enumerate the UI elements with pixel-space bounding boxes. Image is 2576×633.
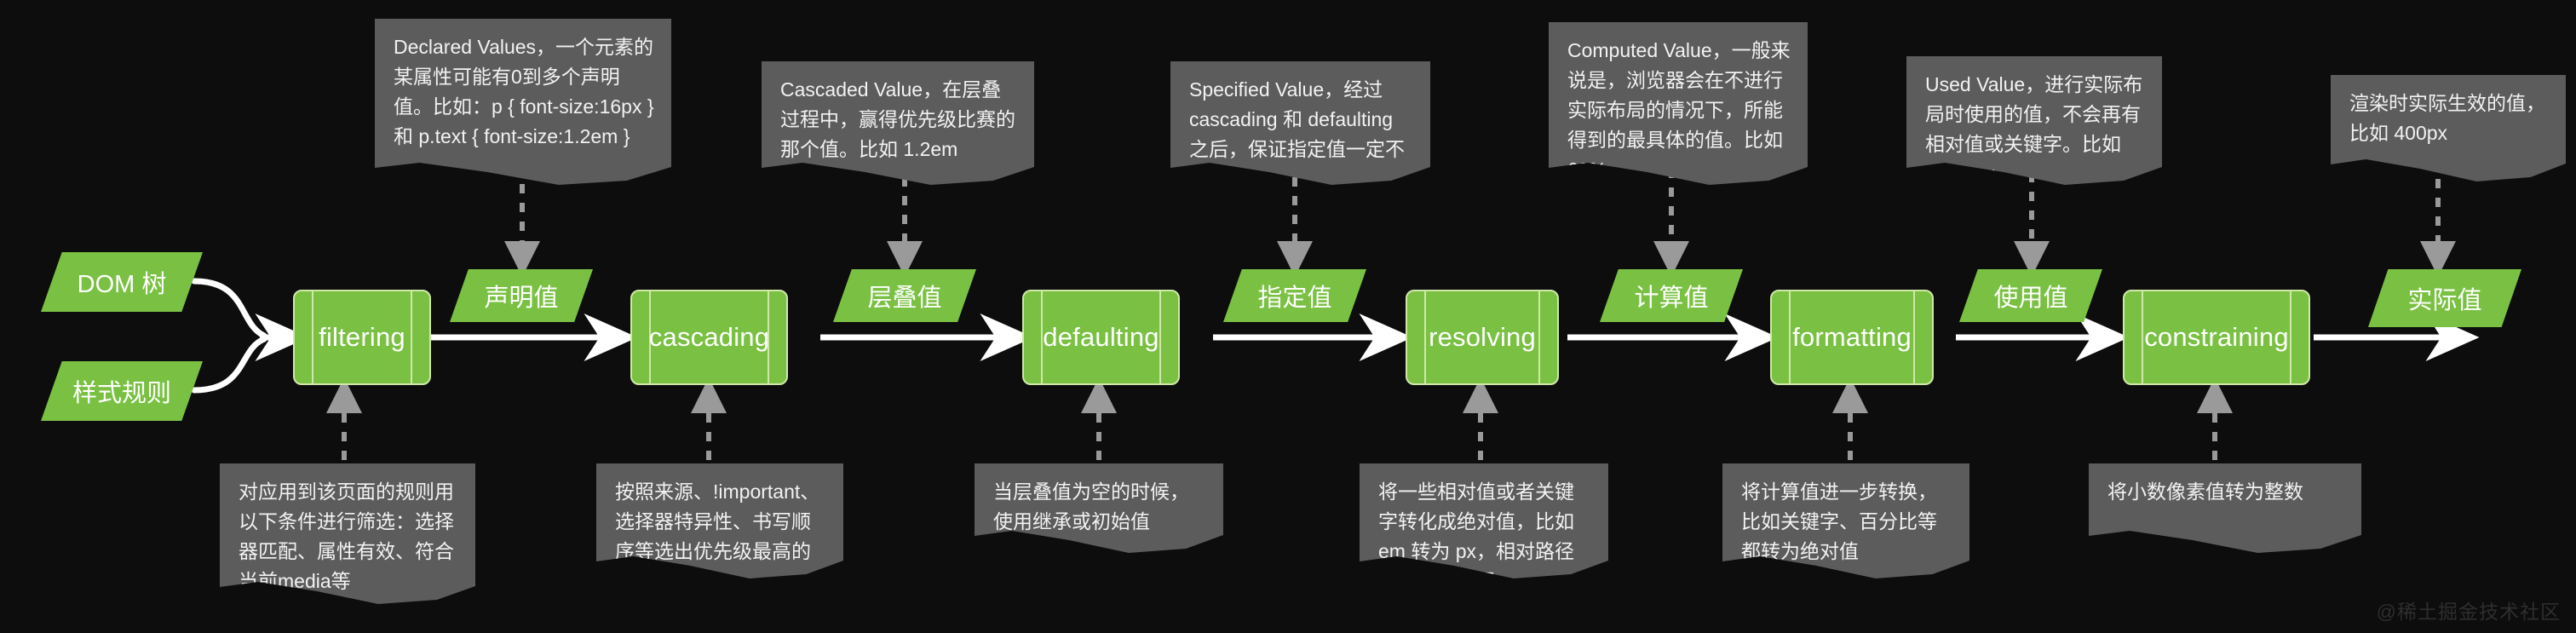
value-specified-value-label: 指定值 (1257, 278, 1331, 314)
value-specified-value[interactable]: 指定值 (1223, 269, 1366, 322)
note-resolving-text: 将一些相对值或者关键字转化成绝对值，比如 em 转为 px，相对路径转为绝对路径 (1378, 481, 1574, 592)
note-actual-value: 渲染时实际生效的值，比如 400px (2331, 75, 2566, 182)
value-computed-value[interactable]: 计算值 (1600, 269, 1743, 322)
note-specified-value: Specified Value，经过 cascading 和 defaultin… (1170, 61, 1430, 186)
value-used-value-label: 使用值 (1993, 278, 2067, 314)
input-style-rules-label: 样式规则 (72, 373, 171, 409)
note-connectors-top (522, 169, 2438, 269)
stage-formatting-label: formatting (1792, 322, 1912, 353)
merge-connector (194, 281, 264, 390)
value-declared-value-label: 声明值 (484, 278, 558, 314)
note-computed-value: Computed Value，一般来说是，浏览器会在不进行实际布局的情况下，所能… (1549, 22, 1808, 186)
note-defaulting: 当层叠值为空的时候，使用继承或初始值 (975, 463, 1223, 554)
diagram-canvas: DOM 树 样式规则 filtering cascading defaultin… (0, 0, 2576, 633)
note-cascaded-value: Cascaded Value，在层叠过程中，赢得优先级比赛的那个值。比如 1.2… (762, 61, 1034, 186)
note-constraining: 将小数像素值转为整数 (2089, 463, 2361, 554)
note-constraining-text: 将小数像素值转为整数 (2107, 481, 2303, 503)
note-defaulting-text: 当层叠值为空的时候，使用继承或初始值 (993, 481, 1189, 532)
value-used-value[interactable]: 使用值 (1959, 269, 2102, 322)
stage-filtering[interactable]: filtering (293, 290, 431, 385)
stage-filtering-label: filtering (319, 322, 405, 353)
note-filtering-text: 对应用到该页面的规则用以下条件进行筛选：选择器匹配、属性有效、符合当前media… (239, 481, 454, 592)
note-cascading-highlight: 一个 (615, 570, 654, 594)
stage-cascading-label: cascading (649, 322, 769, 353)
stage-constraining[interactable]: constraining (2123, 290, 2310, 385)
note-computed-value-text: Computed Value，一般来说是，浏览器会在不进行实际布局的情况下，所能… (1567, 39, 1791, 181)
stage-constraining-label: constraining (2144, 322, 2289, 353)
note-specified-value-text: Specified Value，经过 cascading 和 defaultin… (1189, 78, 1405, 190)
stage-resolving-label: resolving (1429, 322, 1536, 353)
stage-resolving[interactable]: resolving (1406, 290, 1559, 385)
input-style-rules[interactable]: 样式规则 (41, 361, 203, 421)
value-computed-value-label: 计算值 (1634, 278, 1708, 314)
stage-cascading[interactable]: cascading (630, 290, 788, 385)
note-declared-value: Declared Values，一个元素的某属性可能有0到多个声明值。比如：p … (375, 19, 671, 186)
note-used-value: Used Value，进行实际布局时使用的值，不会再有相对值或关键字。比如 40… (1906, 56, 2162, 186)
input-dom-tree-label: DOM 树 (78, 264, 167, 300)
value-actual-value-label: 实际值 (2407, 280, 2481, 316)
note-cascading-text-after: 属性值 (654, 570, 713, 592)
note-cascading: 按照来源、!important、选择器特异性、书写顺序等选出优先级最高的一个属性… (596, 463, 843, 579)
note-actual-value-text: 渲染时实际生效的值，比如 400px (2349, 92, 2545, 144)
value-cascaded-value-label: 层叠值 (867, 278, 941, 314)
stage-defaulting-label: defaulting (1043, 322, 1159, 353)
watermark: @稀土掘金技术社区 (2377, 596, 2561, 624)
note-cascading-text-before: 按照来源、!important、选择器特异性、书写顺序等选出优先级最高的 (615, 481, 819, 562)
stage-formatting[interactable]: formatting (1770, 290, 1934, 385)
note-cascaded-value-text: Cascaded Value，在层叠过程中，赢得优先级比赛的那个值。比如 1.2… (780, 78, 1015, 160)
input-dom-tree[interactable]: DOM 树 (41, 252, 203, 312)
value-actual-value[interactable]: 实际值 (2368, 269, 2521, 327)
stage-defaulting[interactable]: defaulting (1022, 290, 1180, 385)
note-filtering: 对应用到该页面的规则用以下条件进行筛选：选择器匹配、属性有效、符合当前media… (220, 463, 475, 605)
value-declared-value[interactable]: 声明值 (450, 269, 593, 322)
note-resolving: 将一些相对值或者关键字转化成绝对值，比如 em 转为 px，相对路径转为绝对路径 (1360, 463, 1608, 579)
note-used-value-text: Used Value，进行实际布局时使用的值，不会再有相对值或关键字。比如 40… (1925, 73, 2142, 185)
note-formatting-text: 将计算值进一步转换，比如关键字、百分比等都转为绝对值 (1741, 481, 1937, 562)
note-formatting: 将计算值进一步转换，比如关键字、百分比等都转为绝对值 (1722, 463, 1969, 579)
value-cascaded-value[interactable]: 层叠值 (833, 269, 976, 322)
note-declared-value-text: Declared Values，一个元素的某属性可能有0到多个声明值。比如：p … (394, 36, 654, 147)
note-connectors-bottom (344, 385, 2215, 460)
